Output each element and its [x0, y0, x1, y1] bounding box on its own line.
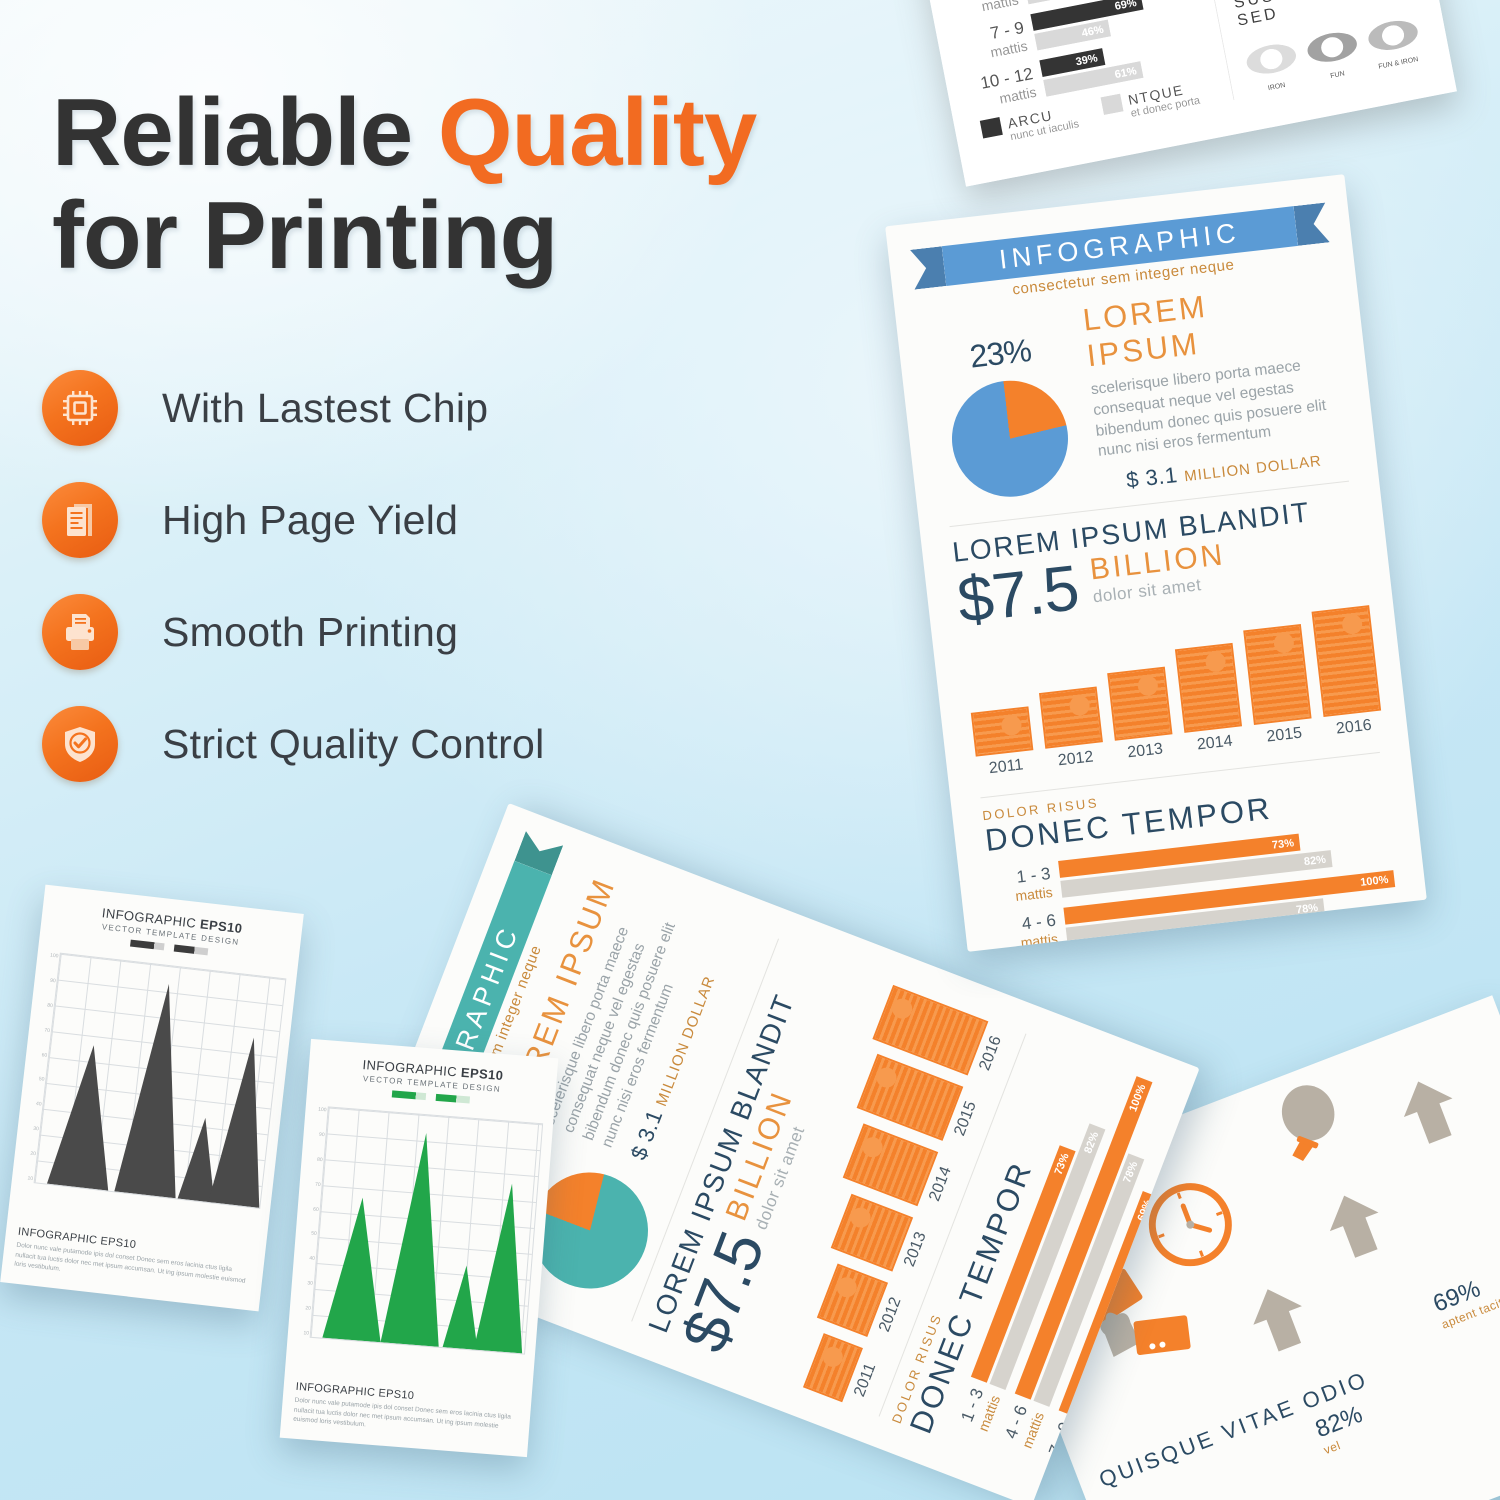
year-label: 2012	[1046, 747, 1106, 771]
y-tick: 30	[296, 1280, 313, 1287]
year-bar: 2015	[1243, 624, 1314, 748]
arrow-up-icon	[1389, 1067, 1472, 1159]
mini-area-chart: 100908070605040302010	[310, 1106, 544, 1354]
stat-69: 69% aptent taciti sociosqu	[1430, 1248, 1500, 1331]
arrow-up-icon	[1238, 1275, 1321, 1367]
feature-label: With Lastest Chip	[162, 385, 488, 432]
headline-line1-dark: Reliable	[52, 79, 438, 186]
infographic-sheet-main: INFOGRAPHIC consectetur sem integer nequ…	[885, 174, 1427, 952]
mini-footer: INFOGRAPHIC EPS10 Dolor nunc vale putamo…	[293, 1381, 520, 1443]
gray-bar-chart: 1 - 3mattis 73%82% 4 - 6mattis 100%78% 7…	[944, 0, 1214, 148]
feature-item-page-yield: High Page Yield	[42, 464, 682, 576]
big-value: $7.5	[955, 557, 1082, 631]
chart-sheet-green: INFOGRAPHIC EPS10 VECTOR TEMPLATE DESIGN…	[280, 1039, 559, 1457]
feature-item-smooth-printing: Smooth Printing	[42, 576, 682, 688]
y-tick: 30	[21, 1125, 39, 1133]
year-label: 2014	[1185, 731, 1245, 755]
year-bars: 2011 2012 2013 2014 2015 2016	[964, 606, 1378, 780]
y-tick: 20	[19, 1149, 37, 1157]
pie-symbol: %	[1001, 332, 1032, 371]
feature-label: High Page Yield	[162, 497, 458, 544]
product-banner: Reliable Quality for Printing	[0, 0, 1500, 1500]
feature-item-quality-control: Strict Quality Control	[42, 688, 682, 800]
y-tick: 100	[41, 952, 59, 960]
shield-check-icon	[42, 706, 118, 782]
year-label: 2013	[1115, 739, 1175, 763]
mini-header: INFOGRAPHIC EPS10 VECTOR TEMPLATE DESIGN	[40, 885, 304, 966]
pages-icon	[42, 482, 118, 558]
feature-item-chip: With Lastest Chip	[42, 352, 682, 464]
year-bar: 2013	[1107, 667, 1175, 764]
pie-chart	[946, 375, 1074, 503]
year-label: 2016	[1324, 715, 1384, 739]
y-tick: 60	[30, 1050, 48, 1058]
year-bar: 2016	[1312, 605, 1384, 740]
year-bar: 2012	[1039, 687, 1106, 772]
teal-money-value: $ 3.1	[626, 1106, 668, 1163]
mini-area-chart: 100908070605040302010	[34, 953, 287, 1209]
y-tick: 40	[24, 1100, 42, 1108]
pie-percent: 23%	[926, 305, 1072, 385]
y-tick: 50	[300, 1230, 317, 1237]
mini-title-bold: EPS10	[460, 1065, 504, 1083]
y-tick: 70	[303, 1180, 320, 1187]
y-tick: 90	[38, 976, 56, 984]
year-label: 2011	[976, 755, 1036, 779]
year-bar: 2011	[971, 706, 1036, 779]
mini-footer: INFOGRAPHIC EPS10 Dolor nunc vale putamo…	[14, 1225, 253, 1296]
y-tick: 20	[294, 1304, 311, 1311]
y-tick: 90	[307, 1131, 324, 1138]
y-tick: 40	[298, 1255, 315, 1262]
year-bar: 2011	[803, 1333, 884, 1410]
chip-icon	[42, 370, 118, 446]
y-tick: 100	[309, 1106, 326, 1113]
pie-value: 23	[968, 335, 1005, 375]
infographic-sheet-grayscale: DOLOR RISUS DONEC TEMPOR 1 - 3mattis 73%…	[903, 0, 1457, 187]
page-title: Reliable Quality for Printing	[52, 82, 932, 287]
y-tick: 60	[302, 1205, 319, 1212]
gray-cat-sub: mattis	[957, 0, 1020, 19]
headline-line2: for Printing	[52, 182, 557, 289]
feature-label: Smooth Printing	[162, 609, 458, 656]
money-value: $ 3.1	[1125, 462, 1179, 493]
y-tick: 50	[27, 1075, 45, 1083]
feature-list: With Lastest Chip High Page Yield	[42, 352, 682, 800]
year-bar: 2014	[1175, 643, 1245, 756]
y-tick: 70	[33, 1026, 51, 1034]
year-label: 2015	[1255, 723, 1315, 747]
headline-line1-accent: Quality	[438, 79, 756, 186]
money-unit: MILLION DOLLAR	[1183, 453, 1322, 486]
y-tick: 10	[292, 1329, 309, 1336]
lightbulb-icon	[1253, 1069, 1365, 1196]
printer-icon	[42, 594, 118, 670]
feature-label: Strict Quality Control	[162, 721, 545, 768]
y-tick: 80	[36, 1001, 54, 1009]
y-tick: 80	[305, 1156, 322, 1163]
chart-sheet-grayscale: INFOGRAPHIC EPS10 VECTOR TEMPLATE DESIGN…	[0, 885, 304, 1312]
year-bar: 2012	[817, 1263, 910, 1345]
arrow-up-icon	[1315, 1181, 1398, 1273]
y-tick: 10	[16, 1174, 34, 1182]
